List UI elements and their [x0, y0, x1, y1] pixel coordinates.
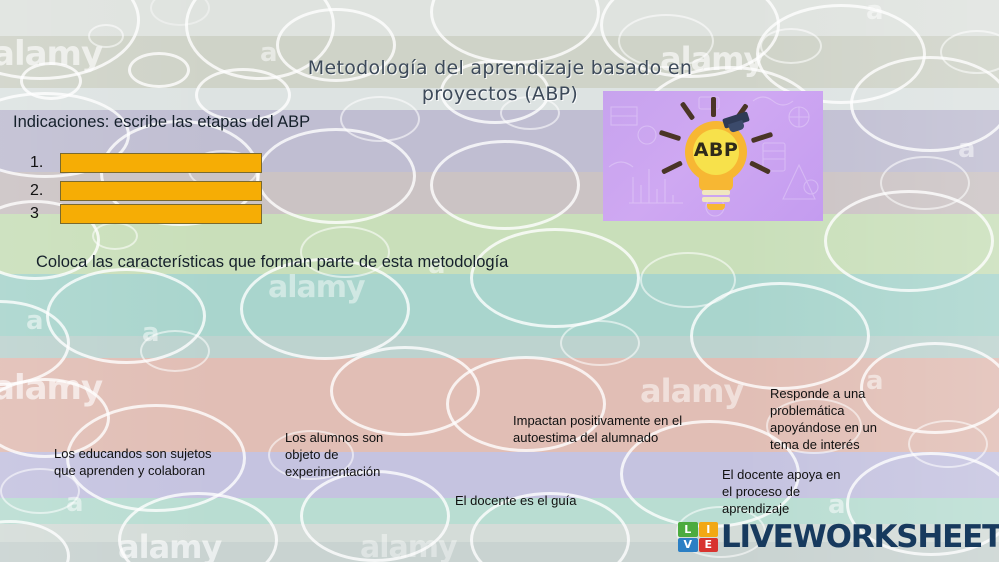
- answer-input-3[interactable]: [60, 204, 262, 224]
- badge-letter-v: V: [678, 538, 698, 553]
- answer-row-number: 3: [30, 205, 60, 223]
- draggable-characteristic[interactable]: Los alumnos son objeto de experimentació…: [285, 429, 400, 480]
- instruction-text-2: Coloca las características que forman pa…: [36, 253, 508, 272]
- liveworksheets-logo: L I V E LIVEWORKSHEETS: [678, 519, 999, 555]
- background-band: [0, 0, 999, 36]
- answer-row: 3: [30, 204, 262, 224]
- background-band: [0, 336, 999, 358]
- background-band: [0, 274, 999, 336]
- liveworksheets-badge-icon: L I V E: [678, 522, 718, 552]
- light-ray-icon: [711, 97, 716, 117]
- draggable-characteristic[interactable]: El docente es el guía: [455, 492, 625, 509]
- abp-lightbulb-image: ABP: [603, 91, 823, 221]
- badge-letter-i: I: [699, 522, 719, 537]
- worksheet-canvas: alamy alamy alamy alamy alamy alamy alam…: [0, 0, 999, 562]
- draggable-characteristic[interactable]: Los educandos son sujetos que aprenden y…: [54, 445, 214, 479]
- liveworksheets-wordmark: LIVEWORKSHEETS: [721, 519, 999, 555]
- answer-row-number: 1.: [30, 154, 60, 172]
- lightbulb-base-icon: [702, 197, 730, 202]
- badge-letter-e: E: [699, 538, 719, 553]
- draggable-characteristic[interactable]: Responde a una problemática apoyándose e…: [770, 385, 885, 453]
- instruction-text-1: Indicaciones: escribe las etapas del ABP: [13, 113, 310, 132]
- draggable-characteristic[interactable]: Impactan positivamente en el autoestima …: [513, 412, 713, 446]
- draggable-characteristic[interactable]: El docente apoya en el proceso de aprend…: [722, 466, 852, 517]
- answer-row-number: 2.: [30, 182, 60, 200]
- answer-row: 2.: [30, 181, 262, 201]
- lightbulb-neck-icon: [699, 175, 733, 191]
- lightbulb-tip-icon: [707, 204, 725, 210]
- answer-input-2[interactable]: [60, 181, 262, 201]
- badge-letter-l: L: [678, 522, 698, 537]
- answer-input-1[interactable]: [60, 153, 262, 173]
- answer-row: 1.: [30, 153, 262, 173]
- abp-label: ABP: [693, 139, 739, 161]
- lightbulb-base-icon: [702, 190, 730, 195]
